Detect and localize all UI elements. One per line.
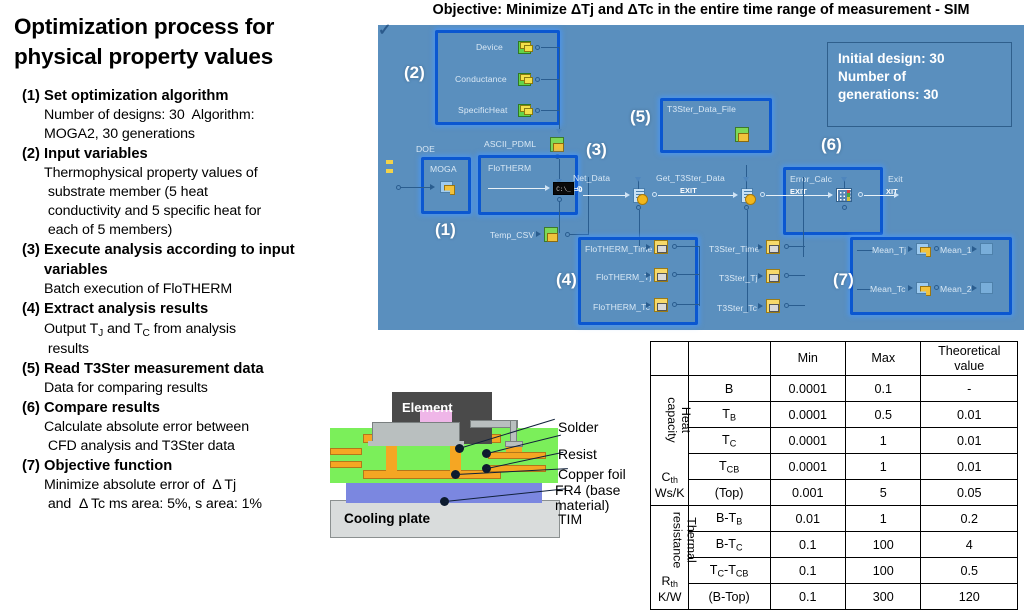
get-t3ster-exit-badge: EXIT [680,186,697,195]
moga-in-arrow-icon [430,184,435,190]
steps-list: (1) Set optimization algorithm Number of… [22,86,364,514]
mean-1-port[interactable] [934,246,939,251]
wire-device [541,47,559,48]
wire-merge-vertical [559,47,560,129]
netdata-arrow-icon [635,177,641,182]
node-label-device: Device [476,42,503,52]
node-label-mean-tc: Mean_Tc [870,284,906,294]
node-label-flotherm-tj: FloTHERM_Tj [596,272,652,282]
step-7-body: Minimize absolute error of Δ Tj and Δ Tc… [22,476,364,514]
group-label-1: (1) [435,220,456,240]
flotherm-tj-icon[interactable] [654,268,668,282]
step-3-number: (3) [22,240,40,260]
step-2-number: (2) [22,144,40,164]
table-body: Heatcapacity CthWs/K B 0.0001 0.1 - TB 0… [651,376,1018,610]
wire-main-bus-mid2 [658,195,733,196]
rowgroup-thermal-resistance-inner: Thermalresistance RthK/W [653,507,686,608]
net-data-icon[interactable] [633,188,645,203]
specificheat-port[interactable] [535,108,540,113]
row-name-b-tb: B-TB [688,506,770,532]
row-name-top: (Top) [688,480,770,506]
get-t3ster-out-port[interactable] [760,192,765,197]
rowgroup-thermal-resistance: Thermalresistance RthK/W [651,506,689,610]
wire-errorcalc-down [803,177,804,257]
wire-mean-tj-in [857,250,873,251]
wire-flotherm-tempcsv [559,201,560,233]
t3ster-tj-icon[interactable] [766,269,780,283]
error-calc-bottom-port[interactable] [842,205,847,210]
group-label-5: (5) [630,107,651,127]
step-7-title: Objective function [44,458,172,474]
step-1-number: (1) [22,86,40,106]
specificheat-icon[interactable] [518,104,531,117]
doe-ports-icon[interactable] [386,160,393,182]
row-max-tc-tcb: 100 [846,558,921,584]
row-max-b: 0.1 [846,376,921,402]
step-2-title: Input variables [44,146,148,162]
get-t3ster-icon[interactable] [741,188,753,203]
step-5-number: (5) [22,359,40,379]
info-box: Initial design: 30Number ofgenerations: … [827,42,1012,127]
node-label-flotherm: FloTHERM [488,163,531,173]
step-2-head: (2) Input variables [22,144,364,164]
conductance-icon[interactable] [518,73,531,86]
step-3-title-cont: variables [22,260,364,280]
wire-tempcsv-up [588,177,589,235]
step-5-title: Read T3Ster measurement data [44,361,264,377]
get-t3ster-in-arrow-icon [733,192,738,198]
row-name-b: B [688,376,770,402]
step-5-head: (5) Read T3Ster measurement data [22,359,364,379]
row-name-tc-tcb: TC-TCB [688,558,770,584]
mean-1-result-icon[interactable] [980,243,993,255]
step-6-title: Compare results [44,400,160,416]
netdata-in-arrow-icon [625,192,630,198]
table-head: Min Max Theoreticalvalue [651,342,1018,376]
node-label-specificheat: SpecificHeat [458,105,507,115]
wire-main-bus-left [488,188,545,189]
step-4-body: Output TJ and TC from analysis results [22,320,364,359]
step-1-body: Number of designs: 30 Algorithm:MOGA2, 3… [22,106,364,144]
row-theo-tb: 0.01 [921,402,1018,428]
row-max-b-top: 300 [846,584,921,610]
rowgroup-heat-capacity-inner: Heatcapacity CthWs/K [653,377,686,504]
flotherm-cmd-icon[interactable]: C:\_ [553,182,574,195]
step-3-head: (3) Execute analysis according to input [22,240,364,260]
step-2-body: Thermophysical property values of substr… [22,164,364,240]
node-label-mean-1: Mean_1 [940,245,972,255]
node-label-mean-2: Mean_2 [940,284,972,294]
row-name-tb: TB [688,402,770,428]
node-label-ascii-pdml: ASCII_PDML [484,139,536,149]
rowgroup-heat-capacity-label: Heatcapacity [664,397,693,442]
wire-doe-moga [400,187,430,188]
row-min-b-tc: 0.1 [770,532,845,558]
step-6-head: (6) Compare results [22,398,364,418]
t3ster-time-arrow-icon [758,244,763,250]
node-label-error-calc: Error_Calc [790,174,832,184]
mean-tc-icon[interactable] [916,282,929,294]
row-min-b-tb: 0.01 [770,506,845,532]
row-name-b-tc: B-TC [688,532,770,558]
node-label-exit: Exit [888,174,903,184]
callout-label-solder: Solder [558,420,598,435]
page-title: Optimization process for physical proper… [14,12,354,71]
mean-1-arrow-icon [972,246,977,252]
table-row: TC-TCB 0.1 100 0.5 [651,558,1018,584]
table-row: (Top) 0.001 5 0.05 [651,480,1018,506]
wire-t3ster-tj [789,275,805,276]
wire-flotherm-tc [677,304,699,305]
header-group-col [651,342,689,376]
step-item-5: (5) Read T3Ster measurement data Data fo… [22,359,364,398]
exit-in-arrow-icon [894,192,899,198]
cooling-plate-label: Cooling plate [344,511,430,526]
mean-2-port[interactable] [934,285,939,290]
step-4-number: (4) [22,299,40,319]
row-name-b-top: (B-Top) [688,584,770,610]
flotherm-time-arrow-icon [646,244,651,250]
flotherm-in-arrow-icon [545,185,550,191]
group-label-3: (3) [586,140,607,160]
step-6-number: (6) [22,398,40,418]
table-row: (B-Top) 0.1 300 120 [651,584,1018,610]
row-max-tc: 1 [846,428,921,454]
copper-trace-left-2 [330,461,362,468]
row-min-top: 0.001 [770,480,845,506]
row-max-b-tc: 100 [846,532,921,558]
copper-foil-bottom [363,470,501,479]
error-calc-in-arrow-icon [828,192,833,198]
header-theoretical: Theoreticalvalue [921,342,1018,376]
mean-tj-icon[interactable] [916,243,929,255]
left-text-column: Optimization process for physical proper… [0,0,368,609]
row-min-tc-tcb: 0.1 [770,558,845,584]
group-label-4: (4) [556,270,577,290]
node-label-t3ster-time: T3Ster_Time [709,244,759,254]
table-row: TC 0.0001 1 0.01 [651,428,1018,454]
step-4-head: (4) Extract analysis results [22,299,364,319]
t3ster-data-file-icon[interactable] [735,127,749,142]
step-6-body: Calculate absolute error between CFD ana… [22,418,364,456]
step-4-title: Extract analysis results [44,301,208,317]
mean-tj-arrow-icon [908,246,913,252]
node-label-flotherm-tc: FloTHERM_Tc [593,302,650,312]
mean-2-arrow-icon [972,285,977,291]
wire-tempcsv-right [570,234,588,235]
step-1-title: Set optimization algorithm [44,88,228,104]
merge-arrow-icon [556,129,562,134]
header-max: Max [846,342,921,376]
mean-tc-arrow-icon [908,285,913,291]
step-7-number: (7) [22,456,40,476]
step-item-3: (3) Execute analysis according to input … [22,240,364,299]
wire-t3ster-time [789,246,805,247]
step-item-4: (4) Extract analysis results Output TJ a… [22,299,364,359]
moga-icon[interactable] [440,181,453,193]
error-calc-icon[interactable] [836,188,852,202]
row-theo-tcb: 0.01 [921,454,1018,480]
callout-label-resist: Resist [558,447,597,462]
flow-diagram-canvas: Initial design: 30Number ofgenerations: … [378,25,1024,330]
row-max-tb: 0.5 [846,402,921,428]
node-label-t3ster-tc: T3Ster_Tc [717,303,757,313]
table-row: TB 0.0001 0.5 0.01 [651,402,1018,428]
row-theo-top: 0.05 [921,480,1018,506]
wire-specificheat [541,110,559,111]
step-3-title: Execute analysis according to input [44,242,295,258]
t3ster-tc-arrow-icon [758,303,763,309]
callout-label-tim: TIM [558,512,582,527]
t3ster-time-icon[interactable] [766,240,780,254]
node-label-flotherm-time: FloTHERM_Time [585,244,652,254]
row-name-tcb: TCB [688,454,770,480]
wire-get-t3ster-down [747,210,748,313]
rowgroup-thermal-resistance-unit: RthK/W [655,574,685,604]
temp-csv-icon[interactable] [544,227,558,242]
row-max-top: 5 [846,480,921,506]
flotherm-time-icon[interactable] [654,240,668,254]
wire-main-bus-mid [583,195,625,196]
step-item-7: (7) Objective function Minimize absolute… [22,456,364,514]
table-row: TCB 0.0001 1 0.01 [651,454,1018,480]
device-icon[interactable] [518,41,531,54]
node-label-t3ster-tj: T3Ster_Tj [719,273,758,283]
row-min-tcb: 0.0001 [770,454,845,480]
step-3-body: Batch execution of FloTHERM [22,280,364,299]
mean-2-result-icon[interactable] [980,282,993,294]
group-label-7: (7) [833,270,854,290]
header-name-col [688,342,770,376]
header-min: Min [770,342,845,376]
cross-section-diagram: Cooling plate Element Solder Resist Copp… [330,380,660,565]
copper-trace-left-1 [330,448,362,455]
node-label-doe: DOE [416,144,435,154]
node-label-get-t3ster: Get_T3Ster_Data [656,173,725,183]
row-min-b: 0.0001 [770,376,845,402]
step-item-6: (6) Compare results Calculate absolute e… [22,398,364,456]
rowgroup-heat-capacity-unit: CthWs/K [655,470,685,500]
flotherm-tc-icon[interactable] [654,298,668,312]
group-label-2: (2) [404,63,425,83]
wire-flotherm-time [677,246,699,247]
row-theo-tc-tcb: 0.5 [921,558,1018,584]
ascii-pdml-icon[interactable] [550,137,564,152]
objective-title: Objective: Minimize ΔTj and ΔTc in the e… [378,2,1024,18]
step-item-2: (2) Input variables Thermophysical prope… [22,144,364,240]
group-label-6: (6) [821,135,842,155]
node-label-moga: MOGA [430,164,457,174]
t3ster-tj-arrow-icon [758,273,763,279]
row-theo-tc: 0.01 [921,428,1018,454]
step-5-body: Data for comparing results [22,379,364,398]
step-item-1: (1) Set optimization algorithm Number of… [22,86,364,144]
row-min-b-top: 0.1 [770,584,845,610]
t3ster-tc-icon[interactable] [766,299,780,313]
table-row: Heatcapacity CthWs/K B 0.0001 0.1 - [651,376,1018,402]
row-theo-b-tb: 0.2 [921,506,1018,532]
table-row: B-TC 0.1 100 4 [651,532,1018,558]
wire-conductance [541,79,559,80]
row-name-tc: TC [688,428,770,454]
row-min-tb: 0.0001 [770,402,845,428]
error-calc-arrow-icon [841,177,847,182]
node-label-temp-csv: Temp_CSV [490,230,534,240]
wire-group4-bus [699,246,700,306]
parameter-table: Min Max Theoreticalvalue Heatcapacity Ct… [650,341,1018,610]
node-label-conductance: Conductance [455,74,507,84]
table-header-row: Min Max Theoreticalvalue [651,342,1018,376]
table-row: Thermalresistance RthK/W B-TB 0.01 1 0.2 [651,506,1018,532]
step-1-head: (1) Set optimization algorithm [22,86,364,106]
temp-csv-in-arrow-icon [536,231,541,237]
element-label: Element [402,400,453,415]
callout-label-fr4: FR4 (basematerial) [555,483,620,512]
callout-label-copper: Copper foil [558,467,626,482]
row-max-b-tb: 1 [846,506,921,532]
node-label-net-data: Net_Data [573,173,610,183]
row-theo-b-top: 120 [921,584,1018,610]
net-data-out-port[interactable] [652,192,657,197]
row-theo-b-tc: 4 [921,532,1018,558]
net-data-badge: =0 [574,185,583,194]
row-min-tc: 0.0001 [770,428,845,454]
device-port[interactable] [535,45,540,50]
get-t3ster-arrow-icon [743,177,749,182]
heat-spreader-thin [368,441,464,446]
flotherm-tj-arrow-icon [646,272,651,278]
step-7-head: (7) Objective function [22,456,364,476]
wire-flotherm-tj [677,274,699,275]
row-theo-b: - [921,376,1018,402]
error-calc-out-port[interactable] [858,192,863,197]
conductance-port[interactable] [535,77,540,82]
flotherm-tc-arrow-icon [646,302,651,308]
node-label-mean-tj: Mean_Tj [872,245,906,255]
rowgroup-heat-capacity: Heatcapacity CthWs/K [651,376,689,506]
wire-main-bus-right [766,195,828,196]
node-label-t3ster-data-file: T3Ster_Data_File [667,104,736,114]
wire-t3ster-tc [789,305,805,306]
wire-exit [864,195,894,196]
row-max-tcb: 1 [846,454,921,480]
rowgroup-thermal-resistance-label: Thermalresistance [670,512,699,568]
